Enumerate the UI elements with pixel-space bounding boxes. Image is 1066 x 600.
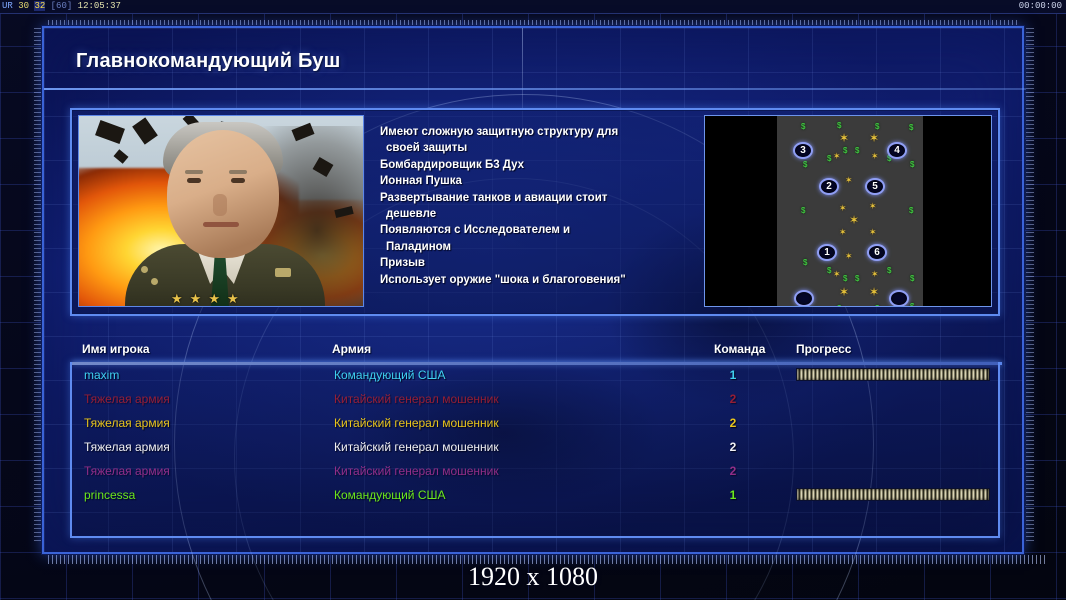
table-row[interactable]: princessaКомандующий США1: [72, 484, 1002, 508]
supply-dock-marker-16: $: [875, 304, 879, 307]
supply-dock-marker-21: $: [855, 274, 859, 283]
column-header-team: Команда: [714, 342, 765, 356]
description-line-1: своей защиты: [380, 140, 690, 156]
cell-team: 2: [720, 463, 746, 479]
resolution-label: 1920 x 1080: [0, 562, 1066, 592]
table-row[interactable]: maximКомандующий США1: [72, 364, 1002, 388]
column-header-army: Армия: [332, 342, 371, 356]
description-line-2: Бомбардировщик Б3 Дух: [380, 157, 690, 173]
progress-bar: [796, 488, 990, 501]
oil-derrick-marker-14: ✶: [869, 288, 879, 297]
description-line-9: Использует оружие "шока и благоговения": [380, 272, 690, 288]
cell-team: 2: [720, 415, 746, 431]
portrait-mouth: [203, 222, 239, 227]
start-position-empty-6[interactable]: [794, 290, 814, 307]
fps-network-stats: UR 30 32 [60] 12:05:37: [2, 1, 121, 11]
faction-info-box: ★★★★ Имеют сложную защитную структуру дл…: [70, 108, 1000, 316]
oil-derrick-marker-2: ✶: [833, 152, 841, 161]
portrait-brow-right: [229, 170, 247, 174]
oil-derrick-marker-7: ✶: [849, 216, 859, 225]
oil-derrick-marker-11: ✶: [833, 270, 841, 279]
page-title: Главнокомандующий Буш: [76, 50, 340, 73]
portrait-brow-left: [185, 170, 203, 174]
rank-pip-1: [141, 266, 148, 273]
faction-description: Имеют сложную защитную структуру длясвое…: [380, 124, 690, 288]
cell-team: 2: [720, 439, 746, 455]
oil-derrick-marker-13: ✶: [839, 288, 849, 297]
portrait-eye-left: [187, 178, 201, 183]
rank-stars: ★★★★: [171, 292, 239, 305]
oil-derrick-marker-1: ✶: [869, 134, 879, 143]
stat-token-0: UR: [2, 1, 13, 11]
rank-pip-2: [151, 278, 158, 285]
supply-dock-marker-4: $: [803, 160, 807, 169]
oil-derrick-marker-0: ✶: [839, 134, 849, 143]
ruler-right: [1026, 28, 1034, 543]
start-position-empty-7[interactable]: [889, 290, 909, 307]
supply-dock-marker-3: $: [909, 123, 913, 132]
rank-star-2: ★: [208, 292, 220, 305]
stat-token-4: 12:05:37: [78, 1, 121, 11]
supply-dock-marker-10: $: [803, 258, 807, 267]
cell-player-name: Тяжелая армия: [84, 439, 170, 455]
cell-player-name: Тяжелая армия: [84, 415, 170, 431]
supply-dock-marker-12: $: [887, 266, 891, 275]
stat-token-3: [60]: [51, 1, 73, 11]
oil-derrick-marker-6: ✶: [869, 202, 877, 211]
rank-star-1: ★: [190, 292, 202, 305]
description-line-7: Паладином: [380, 239, 690, 255]
description-line-8: Призыв: [380, 255, 690, 271]
supply-dock-marker-5: $: [827, 154, 831, 163]
top-status-bar: UR 30 32 [60] 12:05:37 00:00:00: [0, 0, 1066, 14]
supply-dock-marker-15: $: [837, 304, 841, 307]
start-position-4[interactable]: 4: [887, 142, 907, 159]
column-header-progress: Прогресс: [796, 342, 851, 356]
table-row[interactable]: Тяжелая армияКитайский генерал мошенник2: [72, 388, 1002, 412]
supply-dock-marker-1: $: [837, 121, 841, 130]
supply-dock-marker-7: $: [910, 160, 914, 169]
oil-derrick-marker-9: ✶: [869, 228, 877, 237]
cell-army: Китайский генерал мошенник: [334, 391, 499, 407]
supply-dock-marker-20: $: [843, 274, 847, 283]
main-panel: Главнокомандующий Буш: [42, 26, 1024, 554]
ruler-left: [34, 28, 42, 543]
table-row[interactable]: Тяжелая армияКитайский генерал мошенник2: [72, 460, 1002, 484]
cell-army: Китайский генерал мошенник: [334, 463, 499, 479]
table-row[interactable]: Тяжелая армияКитайский генерал мошенник2: [72, 412, 1002, 436]
map-preview[interactable]: $$$$$$$$$$$$$$$$$$$$$$✶✶✶✶✶✶✶✶✶✶✶✶✶✶✶342…: [777, 116, 923, 307]
cell-army: Командующий США: [334, 367, 446, 383]
supply-dock-marker-2: $: [875, 122, 879, 131]
supply-dock-marker-11: $: [827, 266, 831, 275]
rank-star-0: ★: [171, 292, 183, 305]
rank-star-3: ★: [227, 292, 239, 305]
cell-army: Китайский генерал мошенник: [334, 415, 499, 431]
start-position-3[interactable]: 3: [793, 142, 813, 159]
cell-player-name: princessa: [84, 487, 135, 503]
start-position-5[interactable]: 5: [865, 178, 885, 195]
portrait-eye-right: [231, 178, 245, 183]
description-line-4: Развертывание танков и авиации стоит: [380, 190, 690, 206]
supply-dock-marker-0: $: [801, 122, 805, 131]
stat-token-2: 32: [34, 1, 45, 11]
cell-team: 1: [720, 487, 746, 503]
portrait-nose: [213, 194, 227, 216]
oil-derrick-marker-10: ✶: [845, 252, 853, 261]
description-line-0: Имеют сложную защитную структуру для: [380, 124, 690, 140]
cell-army: Китайский генерал мошенник: [334, 439, 499, 455]
supply-dock-marker-13: $: [910, 274, 914, 283]
description-line-5: дешевле: [380, 206, 690, 222]
progress-bar: [796, 368, 990, 381]
cell-army: Командующий США: [334, 487, 446, 503]
cell-player-name: Тяжелая армия: [84, 463, 170, 479]
column-header-player-name: Имя игрока: [82, 342, 150, 356]
oil-derrick-marker-3: ✶: [871, 152, 879, 161]
supply-dock-marker-9: $: [909, 206, 913, 215]
supply-dock-marker-19: $: [855, 146, 859, 155]
general-portrait: ★★★★: [78, 115, 364, 307]
game-lobby-screen: UR 30 32 [60] 12:05:37 00:00:00 Главноко…: [0, 0, 1066, 600]
description-line-6: Появляются с Исследователем и: [380, 222, 690, 238]
supply-dock-marker-8: $: [801, 206, 805, 215]
oil-derrick-marker-4: ✶: [845, 176, 853, 185]
supply-dock-marker-18: $: [843, 146, 847, 155]
table-row[interactable]: Тяжелая армияКитайский генерал мошенник2: [72, 436, 1002, 460]
player-list: maximКомандующий США1Тяжелая армияКитайс…: [70, 362, 1000, 538]
oil-derrick-marker-12: ✶: [871, 270, 879, 279]
cell-player-name: Тяжелая армия: [84, 391, 170, 407]
description-line-3: Ионная Пушка: [380, 173, 690, 189]
cell-player-name: maxim: [84, 367, 119, 383]
start-position-6[interactable]: 6: [867, 244, 887, 261]
cell-team: 1: [720, 367, 746, 383]
session-clock: 00:00:00: [1019, 1, 1062, 11]
stat-token-1: 30: [18, 1, 29, 11]
start-position-1[interactable]: 1: [817, 244, 837, 261]
rank-bar-1: [275, 268, 291, 277]
title-divider: [44, 88, 1026, 90]
oil-derrick-marker-5: ✶: [839, 204, 847, 213]
oil-derrick-marker-8: ✶: [839, 228, 847, 237]
start-position-2[interactable]: 2: [819, 178, 839, 195]
cell-team: 2: [720, 391, 746, 407]
player-table-header: Имя игрока Армия Команда Прогресс: [44, 342, 1026, 364]
supply-dock-marker-17: $: [910, 302, 914, 307]
map-preview-frame[interactable]: $$$$$$$$$$$$$$$$$$$$$$✶✶✶✶✶✶✶✶✶✶✶✶✶✶✶342…: [704, 115, 992, 307]
